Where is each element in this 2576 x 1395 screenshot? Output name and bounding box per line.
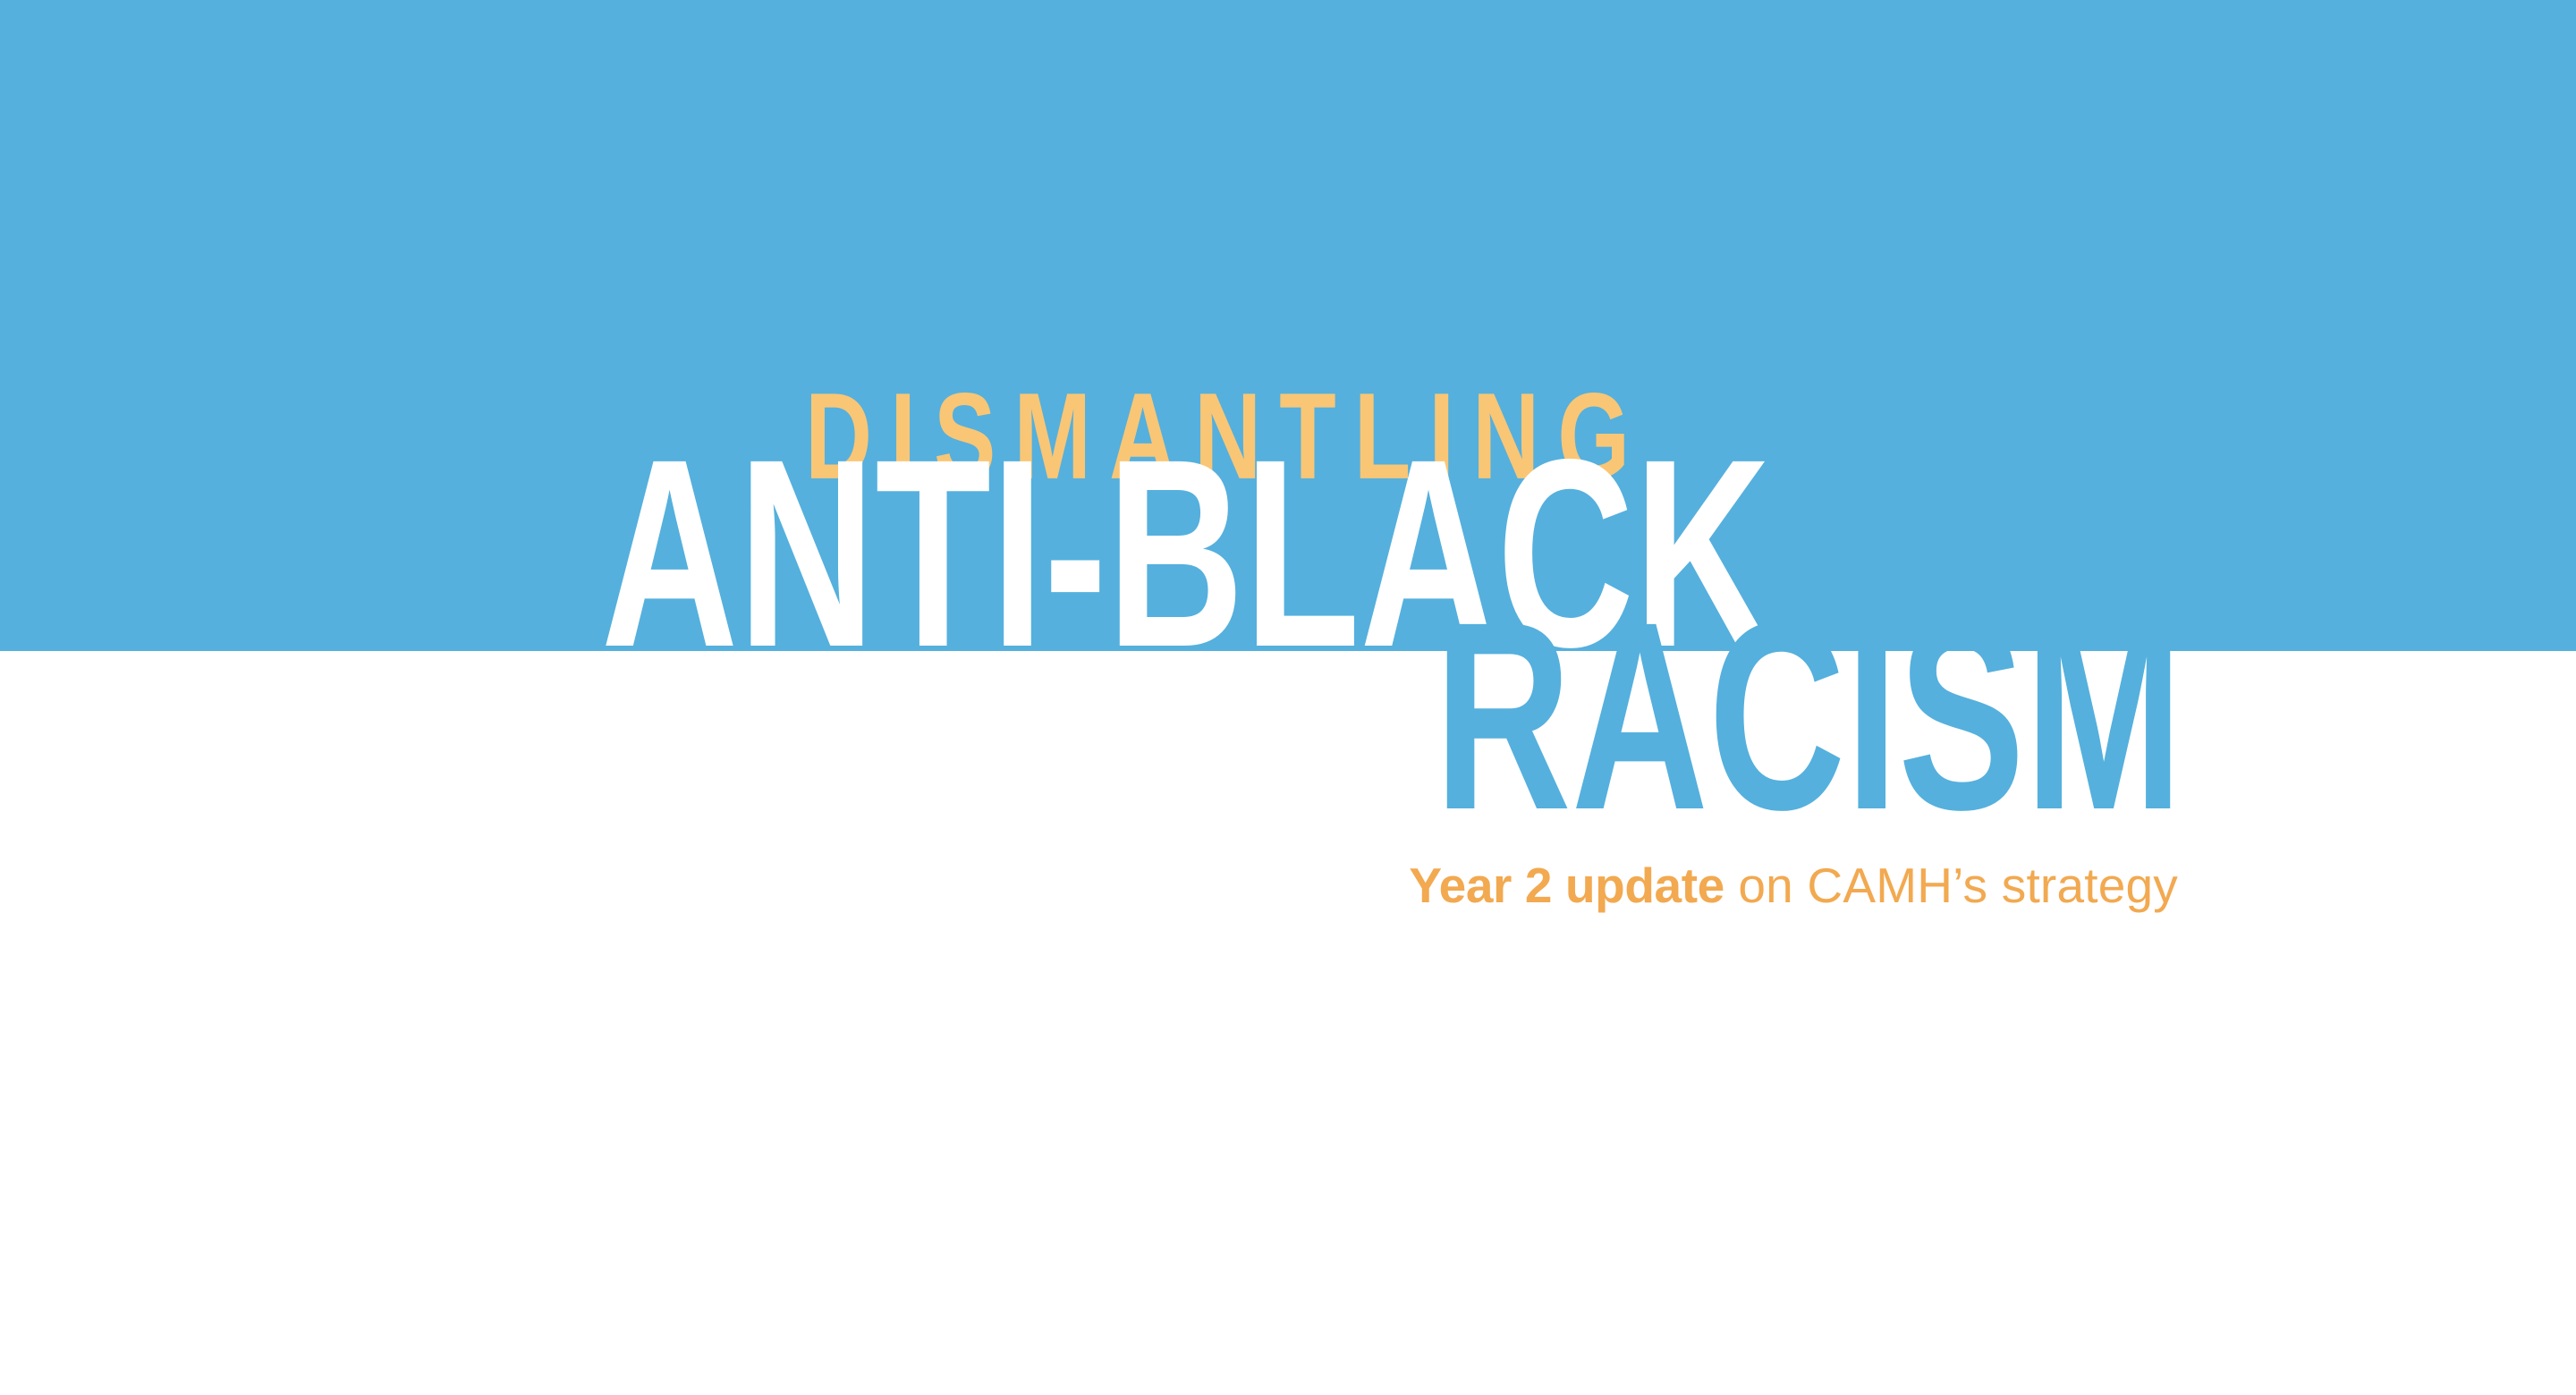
- title-slide: DISMANTLING ANTI-BLACK RACISM Year 2 upd…: [0, 0, 2576, 1395]
- subtitle-light: on CAMH’s strategy: [1724, 858, 2178, 913]
- title-block: DISMANTLING ANTI-BLACK RACISM Year 2 upd…: [0, 0, 2576, 1395]
- title-line-racism: RACISM: [1434, 583, 2182, 851]
- anti-black-clip-region: ANTI-BLACK: [0, 0, 2576, 651]
- subtitle-strong: Year 2 update: [1409, 858, 1724, 913]
- subtitle: Year 2 update on CAMH’s strategy: [1409, 860, 2178, 912]
